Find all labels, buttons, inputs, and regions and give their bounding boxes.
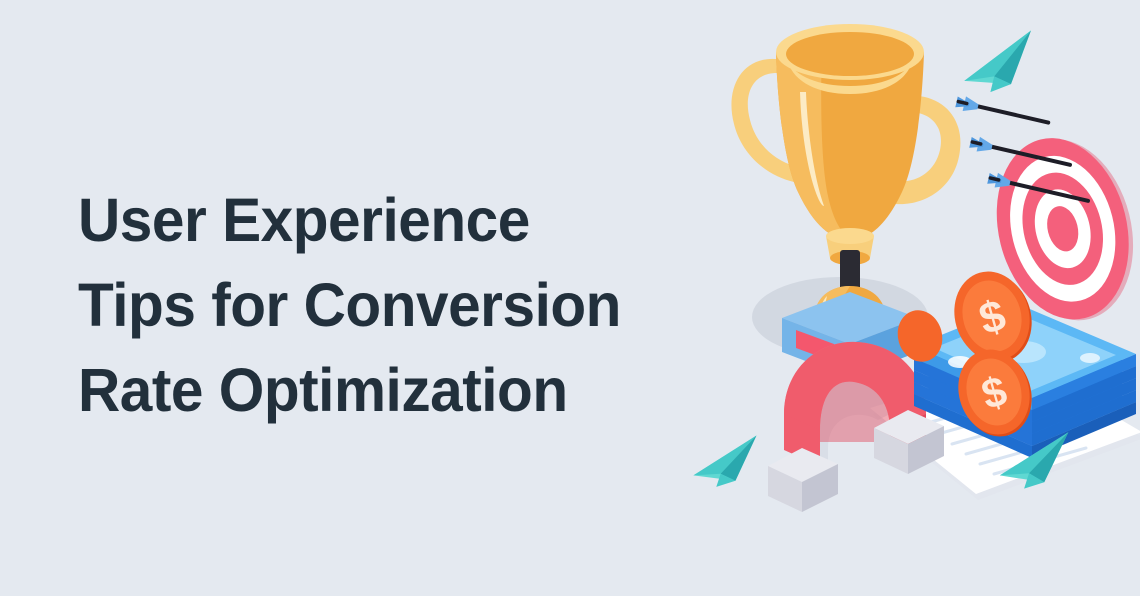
headline-line-2: Tips for Conversion — [78, 263, 673, 348]
page-title: User Experience Tips for Conversion Rate… — [78, 178, 698, 433]
headline-line-1: User Experience — [78, 178, 673, 263]
banner-canvas: User Experience Tips for Conversion Rate… — [0, 0, 1140, 596]
paper-plane-icon — [688, 435, 765, 491]
headline-line-3: Rate Optimization — [78, 348, 673, 433]
paper-plane-icon — [956, 31, 1044, 99]
illustration: $ $ — [672, 0, 1140, 596]
